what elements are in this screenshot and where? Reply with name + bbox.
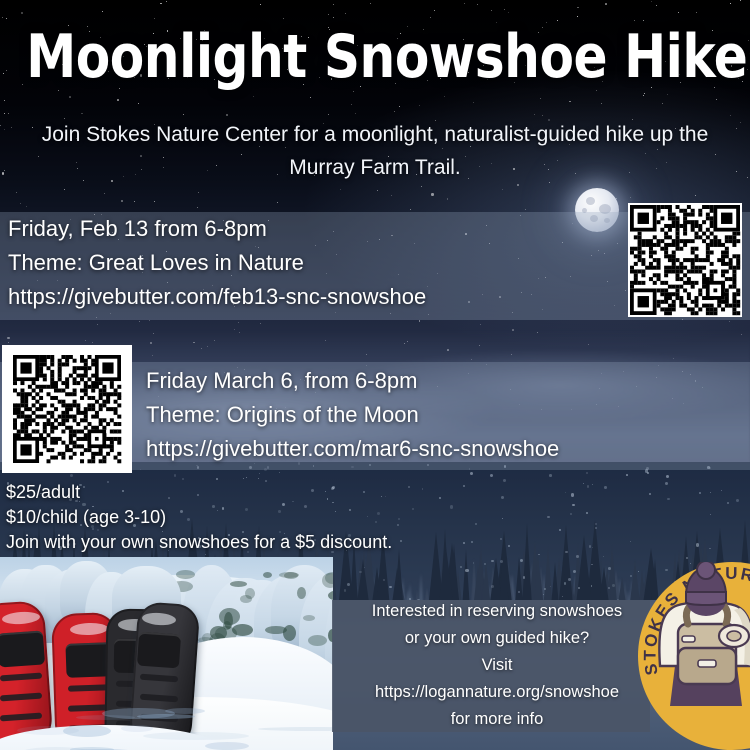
info-line-2: or your own guided hike? (332, 625, 662, 652)
subtitle-line-1: Join Stokes Nature Center for a moonligh… (8, 118, 742, 151)
info-line-3: Visit (332, 652, 662, 679)
event-feb13-url[interactable]: https://givebutter.com/feb13-snc-snowsho… (8, 280, 426, 314)
event-mar6: Friday March 6, from 6-8pm Theme: Origin… (146, 364, 559, 466)
pricing-block: $25/adult $10/child (age 3-10) Join with… (6, 480, 392, 555)
info-line-4[interactable]: https://logannature.org/snowshoe (332, 679, 662, 706)
event-feb13-theme: Theme: Great Loves in Nature (8, 246, 426, 280)
price-child: $10/child (age 3-10) (6, 505, 392, 530)
event-mar6-date: Friday March 6, from 6-8pm (146, 364, 559, 398)
event-mar6-theme: Theme: Origins of the Moon (146, 398, 559, 432)
info-panel: Interested in reserving snowshoes or you… (332, 598, 662, 733)
poster: Moonlight Snowshoe Hikes Join Stokes Nat… (0, 0, 750, 750)
event-feb13-date: Friday, Feb 13 from 6-8pm (8, 212, 426, 246)
price-adult: $25/adult (6, 480, 392, 505)
event-mar6-url[interactable]: https://givebutter.com/mar6-snc-snowshoe (146, 432, 559, 466)
info-line-1: Interested in reserving snowshoes (332, 598, 662, 625)
price-discount: Join with your own snowshoes for a $5 di… (6, 530, 392, 555)
subtitle-line-2: Murray Farm Trail. (8, 151, 742, 184)
snowshoe-photo (0, 557, 333, 750)
event-feb13: Friday, Feb 13 from 6-8pm Theme: Great L… (8, 212, 426, 314)
qr-code-mar6[interactable] (2, 345, 132, 473)
stokes-nature-center-logo: STOKES NATURE CE (638, 562, 750, 750)
qr-code-feb13[interactable] (628, 203, 742, 317)
subtitle: Join Stokes Nature Center for a moonligh… (8, 118, 742, 184)
page-title: Moonlight Snowshoe Hikes (26, 22, 724, 92)
hiker-illustration (638, 562, 750, 706)
info-line-5: for more info (332, 706, 662, 733)
